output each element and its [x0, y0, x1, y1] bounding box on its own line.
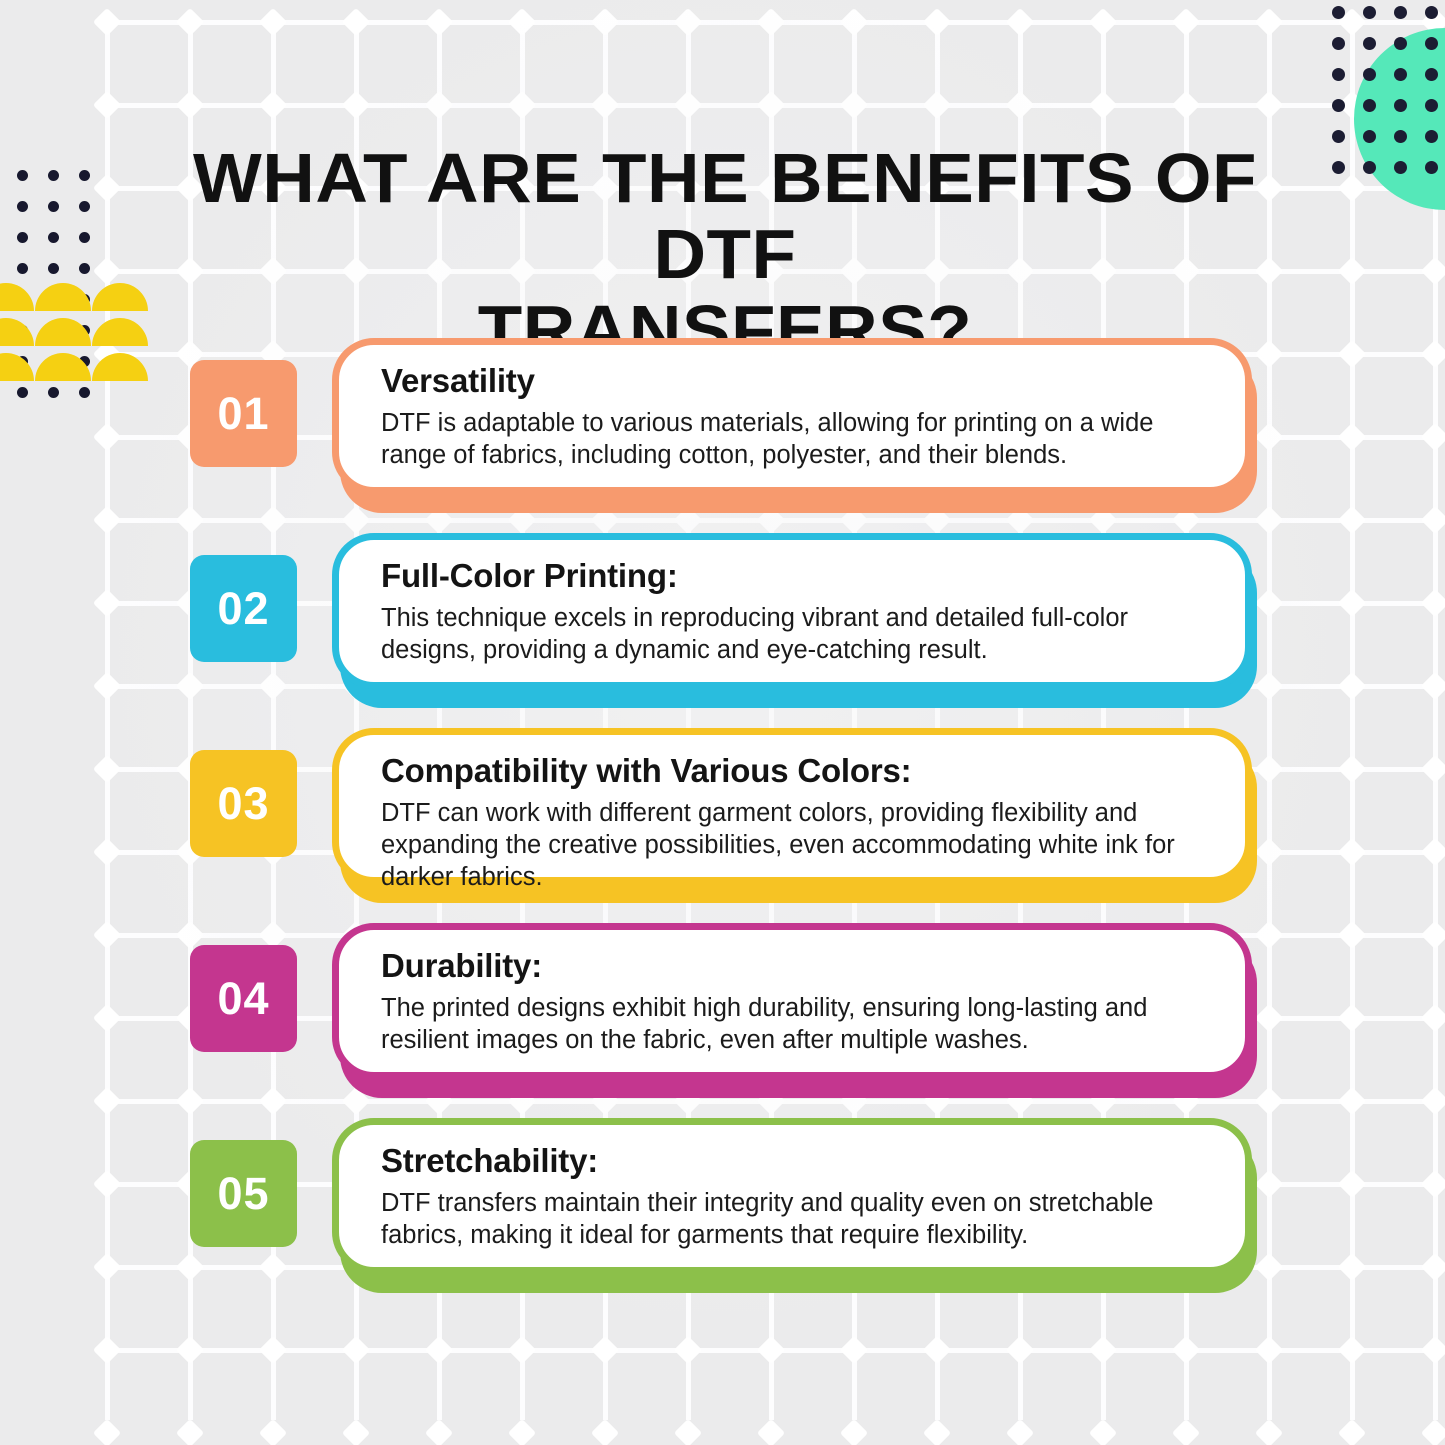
card-body: Compatibility with Various Colors:DTF ca…: [332, 728, 1252, 884]
card-heading: Stretchability:: [381, 1141, 1209, 1181]
benefit-card-list: 01VersatilityDTF is adaptable to various…: [0, 338, 1445, 1313]
card-number-badge-05: 05: [190, 1140, 297, 1247]
card-description: This technique excels in reproducing vib…: [381, 602, 1209, 666]
benefit-card-row: 03Compatibility with Various Colors:DTF …: [0, 728, 1445, 923]
benefit-card: VersatilityDTF is adaptable to various m…: [332, 338, 1257, 513]
card-heading: Durability:: [381, 946, 1209, 986]
benefit-card: Full-Color Printing:This technique excel…: [332, 533, 1257, 708]
benefit-card-row: 01VersatilityDTF is adaptable to various…: [0, 338, 1445, 533]
card-description: DTF can work with different garment colo…: [381, 797, 1209, 893]
card-description: DTF transfers maintain their integrity a…: [381, 1187, 1209, 1251]
dot-grid-top-right: [1316, 0, 1445, 175]
card-description: DTF is adaptable to various materials, a…: [381, 407, 1209, 471]
infographic-canvas: WHAT ARE THE BENEFITS OF DTF TRANSFERS? …: [0, 0, 1445, 1445]
benefit-card: Stretchability:DTF transfers maintain th…: [332, 1118, 1257, 1293]
card-heading: Versatility: [381, 361, 1209, 401]
card-heading: Compatibility with Various Colors:: [381, 751, 1209, 791]
card-body: Full-Color Printing:This technique excel…: [332, 533, 1252, 689]
benefit-card-row: 05Stretchability:DTF transfers maintain …: [0, 1118, 1445, 1313]
benefit-card: Compatibility with Various Colors:DTF ca…: [332, 728, 1257, 903]
benefit-card-row: 04Durability:The printed designs exhibit…: [0, 923, 1445, 1118]
card-body: Durability:The printed designs exhibit h…: [332, 923, 1252, 1079]
benefit-card-row: 02Full-Color Printing:This technique exc…: [0, 533, 1445, 728]
card-number-badge-04: 04: [190, 945, 297, 1052]
page-title: WHAT ARE THE BENEFITS OF DTF TRANSFERS?: [127, 140, 1323, 368]
benefit-card: Durability:The printed designs exhibit h…: [332, 923, 1257, 1098]
card-body: Stretchability:DTF transfers maintain th…: [332, 1118, 1252, 1274]
card-number-badge-03: 03: [190, 750, 297, 857]
card-number-badge-01: 01: [190, 360, 297, 467]
card-body: VersatilityDTF is adaptable to various m…: [332, 338, 1252, 494]
card-number-badge-02: 02: [190, 555, 297, 662]
card-heading: Full-Color Printing:: [381, 556, 1209, 596]
card-description: The printed designs exhibit high durabil…: [381, 992, 1209, 1056]
